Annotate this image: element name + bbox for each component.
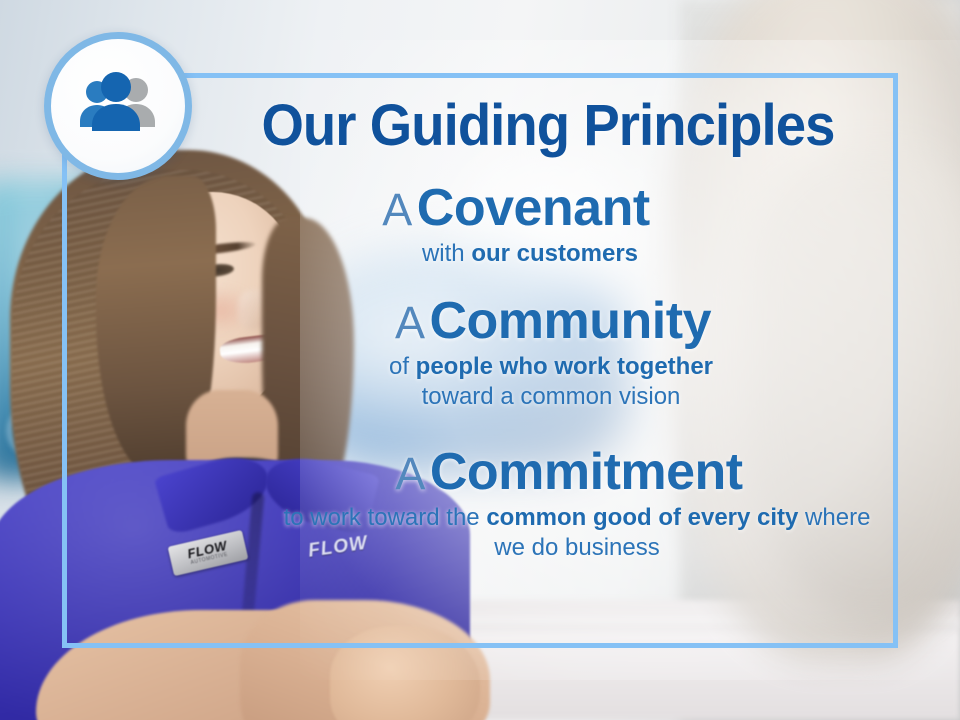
principle-body: of people who work together toward a com… xyxy=(226,352,876,412)
principle-covenant: A Covenant with our customers xyxy=(200,182,876,269)
principle-body-strong: our customers xyxy=(471,240,638,267)
principle-community: A Community of people who work together … xyxy=(200,295,876,412)
principle-heading: A Covenant xyxy=(156,182,876,235)
people-group-icon xyxy=(70,71,166,141)
principle-body-pre: to work toward the xyxy=(284,504,487,531)
principle-article: A xyxy=(395,297,425,348)
principle-article: A xyxy=(382,184,412,235)
principle-body-pre: with xyxy=(422,240,471,267)
page-title: Our Guiding Principles xyxy=(238,96,858,156)
principle-word: Commitment xyxy=(430,443,743,501)
principle-word: Community xyxy=(429,292,711,350)
principle-body-pre: of xyxy=(389,353,416,380)
principle-heading: A Community xyxy=(230,295,876,348)
principle-body: to work toward the common good of every … xyxy=(278,503,876,563)
principle-article: A xyxy=(395,448,425,499)
principle-body-post: where xyxy=(798,504,870,531)
principle-body-line2: toward a common vision xyxy=(226,382,876,412)
guiding-principles-poster: FLOW FLOW AUTOMOTIVE xyxy=(0,0,960,720)
principle-commitment: A Commitment to work toward the common g… xyxy=(200,446,876,563)
principle-body-strong: common good of every city xyxy=(486,504,798,531)
people-group-icon-badge xyxy=(44,32,192,180)
principle-heading: A Commitment xyxy=(262,446,876,499)
principle-word: Covenant xyxy=(417,179,650,237)
principle-body: with our customers xyxy=(184,239,876,269)
principle-body-strong: people who work together xyxy=(416,353,713,380)
principle-body-line2: we do business xyxy=(278,533,876,563)
principles-list: A Covenant with our customers A Communit… xyxy=(200,182,876,575)
